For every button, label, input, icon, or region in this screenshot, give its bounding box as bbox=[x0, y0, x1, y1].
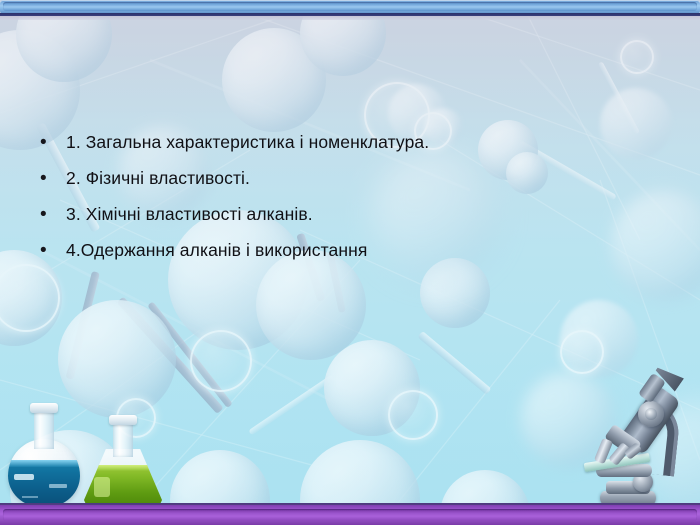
list-item[interactable]: • 2. Фізичні властивості. bbox=[36, 164, 596, 196]
presentation-slide: • 1. Загальна характеристика і номенклат… bbox=[0, 0, 700, 525]
bullet-marker-icon: • bbox=[36, 164, 66, 193]
top-bar-outer bbox=[0, 0, 700, 14]
top-bar-inner bbox=[3, 2, 697, 11]
bullet-list: • 1. Загальна характеристика і номенклат… bbox=[36, 128, 596, 272]
list-item[interactable]: • 1. Загальна характеристика і номенклат… bbox=[36, 128, 596, 160]
list-item[interactable]: • 4.Одержання алканів і використання bbox=[36, 236, 596, 268]
bottom-bar-outer bbox=[0, 505, 700, 525]
top-bar-strip bbox=[0, 16, 700, 20]
list-item-label: 1. Загальна характеристика і номенклатур… bbox=[66, 128, 596, 157]
bullet-marker-icon: • bbox=[36, 236, 66, 265]
list-item-label: 2. Фізичні властивості. bbox=[66, 164, 596, 193]
list-item-label: 3. Хімічні властивості алканів. bbox=[66, 200, 596, 229]
list-item-label: 4.Одержання алканів і використання bbox=[66, 236, 596, 265]
slide-content: • 1. Загальна характеристика і номенклат… bbox=[0, 0, 700, 525]
list-item[interactable]: • 3. Хімічні властивості алканів. bbox=[36, 200, 596, 232]
bullet-marker-icon: • bbox=[36, 200, 66, 229]
bullet-marker-icon: • bbox=[36, 128, 66, 157]
top-decorative-bar bbox=[0, 0, 700, 20]
bottom-decorative-bar bbox=[0, 503, 700, 525]
bottom-bar-inner bbox=[3, 509, 697, 521]
